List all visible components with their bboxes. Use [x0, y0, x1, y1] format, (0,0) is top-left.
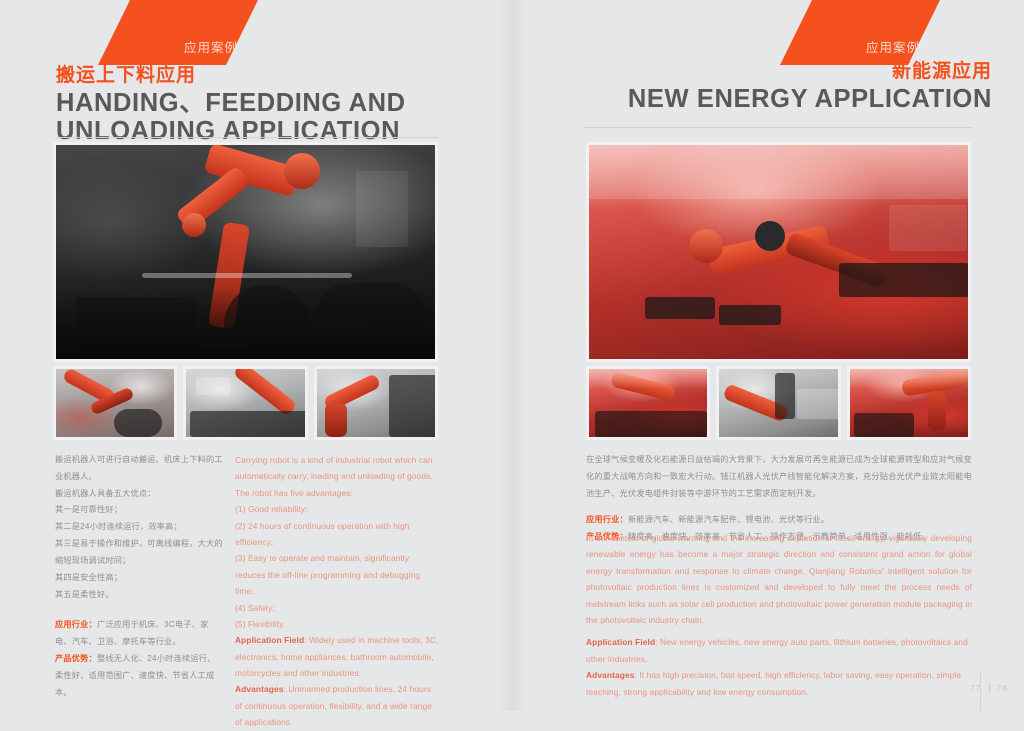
thumb-cabinet — [389, 375, 438, 437]
left-cn-adv-label: 产品优势： — [55, 654, 97, 663]
folio-page-left: 77 — [970, 683, 981, 693]
pv-panel-1 — [645, 297, 715, 319]
left-cn-title: 搬运上下料应用 — [56, 64, 476, 88]
left-cn-p4: 其三是易于操作和维护，可离线编程，大大的缩短现场调试时间； — [55, 536, 223, 570]
left-banner: 应用案例 — [98, 0, 258, 65]
right-thumb-2-scene — [719, 369, 837, 437]
right-en-adv-label: Advantages — [586, 670, 634, 680]
left-thumbnail-strip — [53, 366, 438, 440]
thumb-base — [325, 403, 347, 437]
left-en-p0: Carrying robot is a kind of industrial r… — [235, 452, 440, 501]
left-en-adv: Advantages: Unmanned production lines, 2… — [235, 681, 440, 730]
right-title-rule — [584, 127, 972, 128]
right-banner-label: 应用案例 — [866, 37, 920, 56]
left-en-p1: (1) Good reliability; — [235, 501, 440, 517]
thumb-panel — [196, 377, 230, 395]
left-thumb-2-scene — [186, 369, 304, 437]
thumb-panel — [797, 389, 840, 419]
right-thumb-1-scene — [589, 369, 707, 437]
right-title-block: 新能源应用 NEW ENERGY APPLICATION — [552, 60, 992, 113]
left-cn-p0: 搬运机器人可进行自动搬运、机床上下料的工业机器人。 — [55, 452, 223, 486]
left-cn-p6: 其五是柔性好。 — [55, 587, 223, 604]
right-en-body: In the context of global warming and the… — [586, 530, 972, 700]
left-cn-adv: 产品优势：整线无人化、24小时连续运行、柔性好、适用范围广、速度快、节省人工成本… — [55, 651, 223, 701]
right-hero-image — [586, 142, 971, 362]
right-thumb-3-scene — [850, 369, 968, 437]
brochure-spread: 应用案例 搬运上下料应用 HANDING、FEEDDING AND UNLOAD… — [0, 0, 1024, 711]
robot-joint-a — [689, 229, 723, 263]
left-banner-label: 应用案例 — [184, 37, 238, 56]
robot-joint-a — [284, 153, 320, 189]
table-edge-highlight — [142, 273, 352, 278]
left-cn-p2: 其一是可靠性好； — [55, 502, 223, 519]
pv-panel-2 — [719, 305, 781, 325]
thumb-line — [595, 411, 707, 437]
right-en-field-label: Application Field — [586, 637, 655, 647]
right-thumb-1 — [586, 366, 710, 440]
right-en-adv: Advantages: It has high precision, fast … — [586, 667, 972, 700]
right-cn-field-text: 新能源汽车、新能源汽车配件、锂电池、光伏等行业。 — [628, 515, 829, 524]
left-en-adv-label: Advantages — [235, 684, 283, 694]
left-en-p4: (4) Safety; — [235, 600, 440, 616]
right-thumb-3 — [847, 366, 971, 440]
right-cn-spacer — [586, 502, 972, 512]
folio-page-right: 78 — [997, 683, 1008, 693]
workpiece-dome — [224, 285, 310, 333]
left-cn-p3: 其二是24小时连续运行，效率高； — [55, 519, 223, 536]
right-en-adv-text: : It has high precision, fast speed, hig… — [586, 670, 961, 696]
right-cn-title: 新能源应用 — [552, 60, 992, 84]
thumb-part — [114, 409, 162, 437]
workbench-fixture-left — [76, 297, 196, 359]
left-cn-field-label: 应用行业： — [55, 620, 97, 629]
robot-cable-loop — [755, 221, 785, 251]
left-en-field: Application Field: Widely used in machin… — [235, 632, 440, 681]
background-window — [356, 171, 408, 247]
right-hero-scene — [589, 145, 968, 359]
left-en-field-label: Application Field — [235, 635, 304, 645]
right-en-field: Application Field: New energy vehicles, … — [586, 634, 972, 667]
left-hero-scene — [56, 145, 435, 359]
right-en-p0: In the context of global warming and the… — [586, 530, 972, 628]
thumb-fixture — [854, 413, 914, 437]
right-thumb-2 — [716, 366, 840, 440]
left-en-p3: (3) Easy to operate and maintain, signif… — [235, 550, 440, 599]
left-thumb-2 — [183, 366, 307, 440]
left-cn-p1: 搬运机器人具备五大优点： — [55, 486, 223, 503]
left-cn-p5: 其四是安全性高； — [55, 570, 223, 587]
ceiling-panels — [589, 145, 968, 199]
right-banner: 应用案例 — [780, 0, 940, 65]
conveyor-belt — [839, 263, 969, 297]
folio: 77 78 — [970, 683, 1008, 693]
left-en-p2: (2) 24 hours of continuous operation wit… — [235, 518, 440, 551]
right-cn-field: 应用行业：新能源汽车、新能源汽车配件、锂电池、光伏等行业。 — [586, 512, 972, 529]
left-cn-body: 搬运机器人可进行自动搬运、机床上下料的工业机器人。 搬运机器人具备五大优点： 其… — [55, 452, 223, 701]
thumb-column — [928, 391, 946, 431]
workpiece-dome-2 — [318, 283, 424, 323]
folio-divider — [989, 683, 990, 693]
left-thumb-1 — [53, 366, 177, 440]
robot-joint-b — [182, 213, 206, 237]
left-title-block: 搬运上下料应用 HANDING、FEEDDING AND UNLOADING A… — [56, 64, 476, 146]
left-title-rule — [56, 137, 438, 138]
line-equipment — [889, 205, 967, 251]
thumb-machine — [190, 411, 307, 437]
right-thumbnail-strip — [586, 366, 971, 440]
left-hero-image — [53, 142, 438, 362]
thumb-arm — [233, 366, 298, 417]
left-en-body: Carrying robot is a kind of industrial r… — [235, 452, 440, 731]
right-page: 应用案例 新能源应用 NEW ENERGY APPLICATION — [512, 0, 1024, 711]
thumb-arm — [610, 371, 676, 401]
left-en-p5: (5) Flexibility. — [235, 616, 440, 632]
left-page: 应用案例 搬运上下料应用 HANDING、FEEDDING AND UNLOAD… — [0, 0, 512, 711]
left-cn-spacer — [55, 603, 223, 617]
right-cn-field-label: 应用行业： — [586, 515, 628, 524]
thumb-mast — [775, 373, 795, 419]
left-thumb-3 — [314, 366, 438, 440]
left-thumb-1-scene — [56, 369, 174, 437]
left-cn-field: 应用行业：广泛应用于机床、3C电子、家电、汽车、卫浴、摩托车等行业。 — [55, 617, 223, 651]
right-cn-p0: 在全球气候变暖及化石能源日益枯竭的大背景下，大力发展可再生能源已成为全球能源转型… — [586, 452, 972, 502]
right-en-title: NEW ENERGY APPLICATION — [552, 85, 992, 114]
left-thumb-3-scene — [317, 369, 435, 437]
